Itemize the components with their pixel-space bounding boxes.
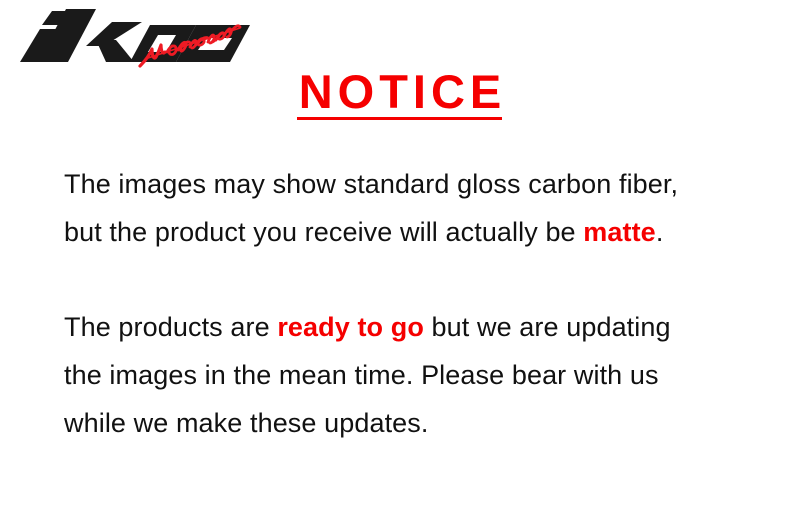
highlighted-text: matte xyxy=(583,217,656,247)
notice-card: ikon Motorsports NOTICE The images may s… xyxy=(0,0,800,510)
body-text: . xyxy=(656,217,664,247)
notice-line: the images in the mean time. Please bear… xyxy=(64,351,764,399)
notice-line: The images may show standard gloss carbo… xyxy=(64,160,764,208)
body-text: but the product you receive will actuall… xyxy=(64,217,583,247)
body-text: The products are xyxy=(64,312,277,342)
title-underline xyxy=(297,117,502,120)
body-text: The images may show standard gloss carbo… xyxy=(64,169,678,199)
notice-paragraph: The products are ready to go but we are … xyxy=(64,303,764,447)
notice-line: while we make these updates. xyxy=(64,399,764,447)
notice-paragraph: The images may show standard gloss carbo… xyxy=(64,160,764,256)
notice-line: The products are ready to go but we are … xyxy=(64,303,764,351)
notice-body: The images may show standard gloss carbo… xyxy=(64,160,764,447)
body-text: the images in the mean time. Please bear… xyxy=(64,360,659,390)
body-text: but we are updating xyxy=(424,312,671,342)
body-text: while we make these updates. xyxy=(64,408,429,438)
page-title: NOTICE xyxy=(294,66,507,118)
notice-heading: NOTICE xyxy=(0,66,800,118)
notice-line: but the product you receive will actuall… xyxy=(64,208,764,256)
highlighted-text: ready to go xyxy=(277,312,424,342)
